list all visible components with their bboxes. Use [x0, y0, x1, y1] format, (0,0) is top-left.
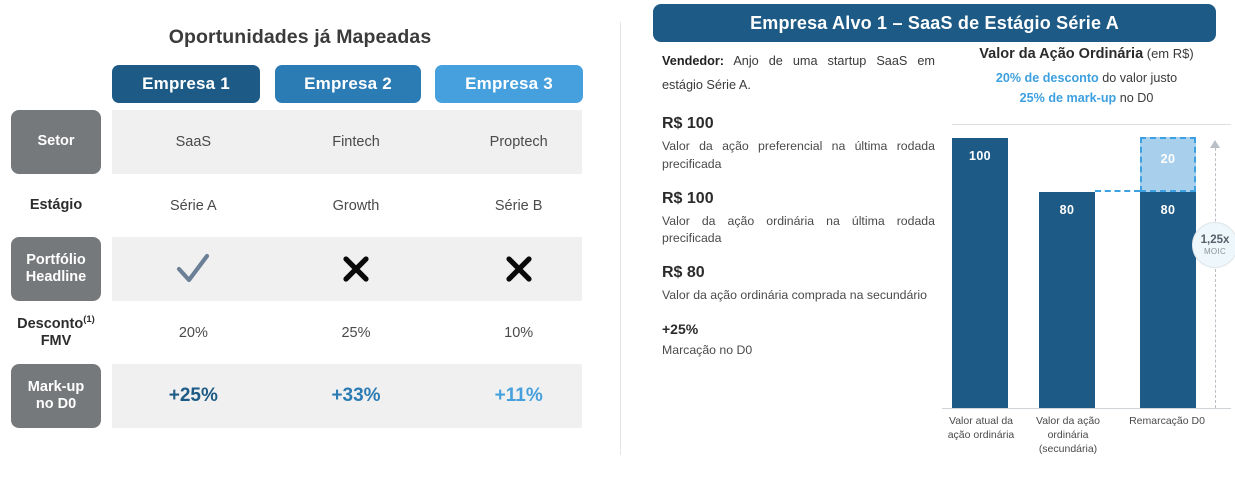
- row-cells: 20% 25% 10%: [112, 301, 600, 364]
- x-axis-label: Valor atual da ação ordinária: [938, 414, 1024, 442]
- row-label-cell: Estágio: [0, 174, 112, 237]
- info-block: R$ 100 Valor da ação preferencial na últ…: [662, 115, 935, 174]
- x-axis-label: Remarcação D0: [1114, 414, 1220, 428]
- right-panel: Empresa Alvo 1 – SaaS de Estágio Série A…: [620, 0, 1235, 477]
- table-row: PortfólioHeadline: [0, 237, 600, 301]
- row-label-cell: Setor: [0, 110, 112, 174]
- subtitle-rest: no D0: [1116, 91, 1153, 105]
- row-label-word: Desconto: [17, 316, 83, 332]
- bar-chart-plot: 100 80 80 20: [938, 124, 1235, 409]
- chart-subtitle-line-2: 25% de mark-up no D0: [938, 89, 1235, 109]
- info-block: R$ 80 Valor da ação ordinária comprada n…: [662, 264, 935, 305]
- chart-subtitle-line-1: 20% de desconto do valor justo: [938, 69, 1235, 89]
- moic-value: 1,25x: [1201, 234, 1230, 246]
- row-label-cell: Mark-upno D0: [0, 364, 112, 428]
- vendor-label: Vendedor:: [662, 54, 724, 68]
- chart-title-main: Valor da Ação Ordinária: [979, 46, 1143, 62]
- chart-baseline-axis: [942, 408, 1231, 409]
- info-block: +25% Marcação no D0: [662, 321, 935, 360]
- table-cell: +33%: [275, 364, 438, 428]
- x-axis-label: Valor da ação ordinária (secundária): [1028, 414, 1108, 457]
- table-cell: [112, 237, 275, 301]
- x-mark-icon: [505, 255, 533, 283]
- subtitle-highlight: 25% de mark-up: [1020, 91, 1117, 105]
- info-amount: +25%: [662, 321, 935, 337]
- chart-x-axis-labels: Valor atual da ação ordinária Valor da a…: [938, 414, 1235, 474]
- chart-title-unit: (em R$): [1143, 46, 1194, 61]
- footnote-marker: (1): [83, 314, 95, 325]
- table-cell: Proptech: [437, 110, 600, 174]
- row-label-text: Estágio: [7, 197, 105, 214]
- info-amount: R$ 80: [662, 264, 935, 282]
- row-label-line1: Mark-upno D0: [28, 379, 84, 413]
- bar-value-label: 80: [1161, 203, 1176, 217]
- table-row: Estágio Série A Growth Série B: [0, 174, 600, 237]
- moic-badge: 1,25x MOIC: [1192, 222, 1235, 268]
- table-row: Desconto(1) FMV 20% 25% 10%: [0, 301, 600, 364]
- table-row: Setor SaaS Fintech Proptech: [0, 110, 600, 174]
- row-cells: +25% +33% +11%: [112, 364, 600, 428]
- row-label-chip: Setor: [11, 110, 101, 174]
- table-cell: Série A: [112, 174, 275, 237]
- right-panel-header: Empresa Alvo 1 – SaaS de Estágio Série A: [653, 4, 1216, 42]
- tab-label: Empresa 3: [465, 74, 553, 94]
- table-cell: [275, 237, 438, 301]
- row-label-chip: Mark-upno D0: [11, 364, 101, 428]
- table-cell: [437, 237, 600, 301]
- moic-label: MOIC: [1204, 247, 1226, 256]
- subtitle-rest: do valor justo: [1099, 71, 1177, 85]
- slide-root: Oportunidades já Mapeadas Empresa 1 Empr…: [0, 0, 1235, 477]
- table-cell: 20%: [112, 301, 275, 364]
- info-description: Marcação no D0: [662, 342, 935, 360]
- bar-valor-secundaria: 80: [1039, 192, 1095, 408]
- table-cell: +25%: [112, 364, 275, 428]
- info-amount: R$ 100: [662, 115, 935, 133]
- bar-value-label: 100: [969, 149, 991, 163]
- info-description: Valor da ação preferencial na última rod…: [662, 138, 935, 174]
- table-row: Mark-upno D0 +25% +33% +11%: [0, 364, 600, 428]
- subtitle-highlight: 20% de desconto: [996, 71, 1099, 85]
- row-label-chip: PortfólioHeadline: [11, 237, 101, 301]
- company-tabs: Empresa 1 Empresa 2 Empresa 3: [0, 65, 600, 103]
- info-description: Valor da ação ordinária comprada na secu…: [662, 287, 935, 305]
- bar-valor-atual: 100: [952, 138, 1008, 408]
- chart-column: Valor da Ação Ordinária (em R$) 20% de d…: [938, 46, 1235, 466]
- row-label-line1: PortfólioHeadline: [26, 252, 86, 286]
- bar-remarcacao-base: 80: [1140, 192, 1196, 408]
- bar-value-label: 20: [1161, 152, 1176, 166]
- row-label-cell: PortfólioHeadline: [0, 237, 112, 301]
- table-cell: 25%: [275, 301, 438, 364]
- info-block: R$ 100 Valor da ação ordinária na última…: [662, 190, 935, 249]
- table-cell: Fintech: [275, 110, 438, 174]
- row-label-word2: FMV: [41, 333, 72, 349]
- table-cell: 10%: [437, 301, 600, 364]
- table-cell: Série B: [437, 174, 600, 237]
- x-mark-icon: [342, 255, 370, 283]
- row-label-cell: Desconto(1) FMV: [0, 301, 112, 364]
- page-title: Oportunidades já Mapeadas: [0, 26, 600, 49]
- row-cells: [112, 237, 600, 301]
- comparison-table: Setor SaaS Fintech Proptech Estágio Séri…: [0, 110, 600, 428]
- tab-label: Empresa 2: [304, 74, 392, 94]
- deal-details-column: Vendedor: Anjo de uma startup SaaS em es…: [662, 50, 935, 376]
- check-mark-icon: [176, 253, 210, 285]
- row-cells: SaaS Fintech Proptech: [112, 110, 600, 174]
- info-description: Valor da ação ordinária na última rodada…: [662, 213, 935, 249]
- chart-subtitle: 20% de desconto do valor justo 25% de ma…: [938, 69, 1235, 108]
- table-cell: SaaS: [112, 110, 275, 174]
- tab-label: Empresa 1: [142, 74, 230, 94]
- table-cell: +11%: [437, 364, 600, 428]
- row-cells: Série A Growth Série B: [112, 174, 600, 237]
- vendor-line: Vendedor: Anjo de uma startup SaaS em es…: [662, 50, 935, 97]
- table-cell: Growth: [275, 174, 438, 237]
- tab-empresa-3[interactable]: Empresa 3: [435, 65, 583, 103]
- bar-value-label: 80: [1060, 203, 1075, 217]
- dashed-connector: [1095, 190, 1140, 192]
- row-label-text: Desconto(1) FMV: [7, 314, 105, 350]
- tab-empresa-1[interactable]: Empresa 1: [112, 65, 260, 103]
- info-amount: R$ 100: [662, 190, 935, 208]
- chart-top-gridline: [952, 124, 1231, 125]
- chart-title: Valor da Ação Ordinária (em R$): [938, 46, 1235, 62]
- bar-remarcacao-markup: 20: [1140, 137, 1196, 192]
- left-panel: Oportunidades já Mapeadas Empresa 1 Empr…: [0, 0, 600, 477]
- moic-arrow-line: [1215, 148, 1216, 408]
- moic-arrow-head: [1210, 140, 1220, 148]
- tab-empresa-2[interactable]: Empresa 2: [275, 65, 421, 103]
